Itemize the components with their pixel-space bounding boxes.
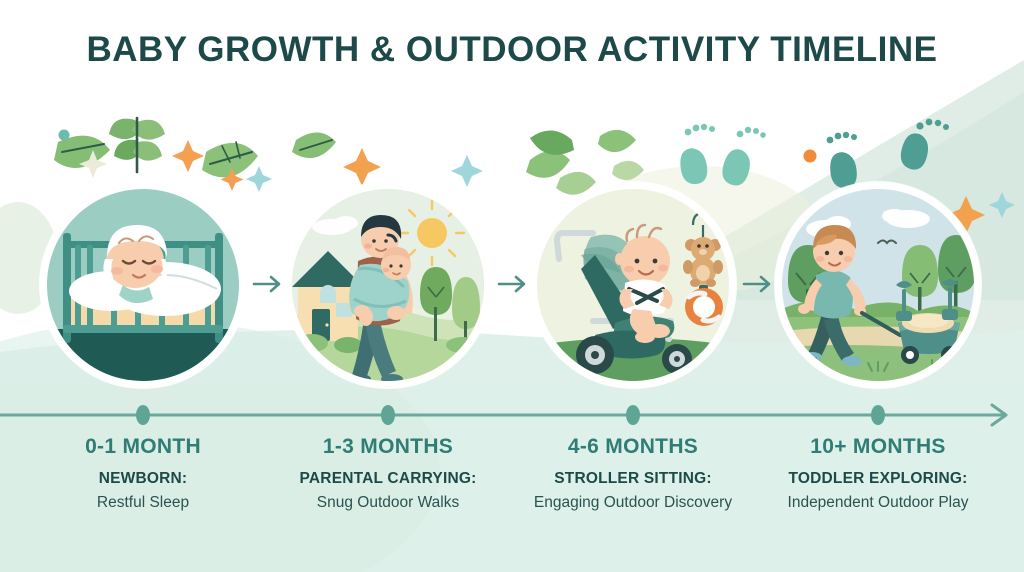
stage-illustration-parental-carrying (285, 182, 491, 388)
stage-month-label: 1-3 MONTHS (263, 434, 513, 460)
panel-scene-toddler (782, 189, 974, 381)
panel-scene-stroller (537, 189, 729, 381)
caption-stage-toddler: 10+ MONTHS TODDLER EXPLORING: Independen… (753, 434, 1003, 514)
baby-footprints-left-pair (677, 124, 766, 188)
timeline-marker (381, 405, 395, 425)
stage-month-label: 10+ MONTHS (753, 434, 1003, 460)
timeline-axis (0, 398, 1024, 432)
caption-stage-parental-carrying: 1-3 MONTHS PARENTAL CARRYING: Snug Outdo… (263, 434, 513, 514)
timeline-marker (136, 405, 150, 425)
stage-description: Independent Outdoor Play (753, 492, 1003, 514)
arrow-stage1-to-stage2-icon (252, 272, 286, 296)
stage-illustration-newborn (40, 182, 246, 388)
star-orange-top-left (172, 140, 204, 172)
arrow-stage2-to-stage3-icon (497, 272, 531, 296)
stage-role-label: STROLLER SITTING: (508, 469, 758, 489)
stage-role-label: TODDLER EXPLORING: (753, 469, 1003, 489)
timeline-marker (871, 405, 885, 425)
stage-illustration-toddler (775, 182, 981, 388)
page-title: BABY GROWTH & OUTDOOR ACTIVITY TIMELINE (0, 30, 1024, 70)
arrow-stage3-to-stage4-icon (742, 272, 776, 296)
stage-description: Engaging Outdoor Discovery (508, 492, 758, 514)
stage-illustration-stroller (530, 182, 736, 388)
star-orange-above-panel2 (343, 148, 381, 186)
stage-month-label: 0-1 MONTH (18, 434, 268, 460)
stage-role-label: PARENTAL CARRYING: (263, 469, 513, 489)
caption-stage-stroller: 4-6 MONTHS STROLLER SITTING: Engaging Ou… (508, 434, 758, 514)
panel-scene-carrying (292, 189, 484, 381)
stage-description: Snug Outdoor Walks (263, 492, 513, 514)
stage-role-label: NEWBORN: (18, 469, 268, 489)
caption-stage-newborn: 0-1 MONTH NEWBORN: Restful Sleep (18, 434, 268, 514)
dot-orange-upper-right (804, 150, 817, 163)
baby-footprints-right-pair (827, 119, 949, 191)
dot-teal-top-left (59, 130, 70, 141)
stage-month-label: 4-6 MONTHS (508, 434, 758, 460)
leaf-sprig-top-left (109, 118, 165, 172)
panel-scene-crib (47, 189, 239, 381)
stage-description: Restful Sleep (18, 492, 268, 514)
sparkle-teal-panel4 (989, 192, 1015, 218)
infographic-canvas: BABY GROWTH & OUTDOOR ACTIVITY TIMELINE (0, 0, 1024, 572)
timeline-marker (626, 405, 640, 425)
